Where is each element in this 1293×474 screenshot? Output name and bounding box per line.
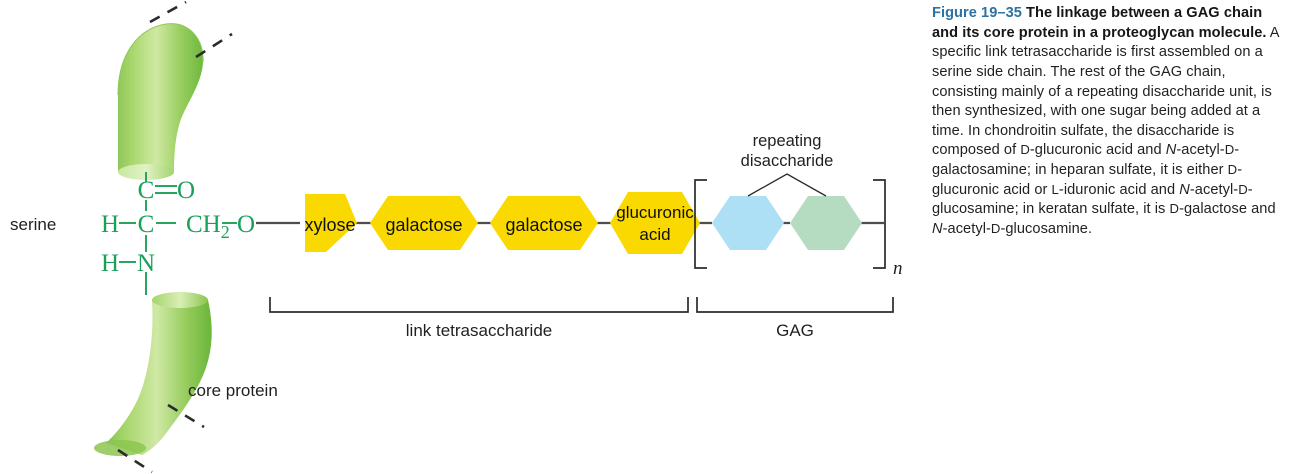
caption-segment-plain: -iduronic acid and [1059,182,1179,198]
sugar-galactose-2[interactable]: galactose [490,196,598,250]
repeating-disaccharide-label-line2: disaccharide [741,152,834,170]
label-link-tetrasaccharide: link tetrasaccharide [406,321,552,340]
bracket-gag [697,297,893,312]
sugar-glucuronic-acid-label-line2: acid [639,225,670,244]
label-core-protein: core protein [188,381,278,400]
atom-ether-o: O [237,211,255,238]
serine-structure: C O H C CH2 O H N [101,172,300,295]
atom-carbonyl-o: O [177,177,195,204]
sugar-xylose[interactable]: xylose [304,194,357,252]
atom-ch2-subscript: 2 [221,222,230,242]
caption-segment-sc: D [1170,201,1180,216]
caption-segment-sc: D [1225,142,1235,157]
caption-segment-plain: -glucuronic acid and [1030,142,1166,158]
sugar-gag-blue[interactable] [712,196,784,250]
label-gag: GAG [776,321,814,340]
caption-segment-ital: N [1179,182,1190,198]
atom-alpha-h: H [101,211,119,238]
figure-caption: Figure 19–35 The linkage between a GAG c… [932,4,1284,240]
caption-segment-plain: -acetyl- [1176,142,1224,158]
sugar-galactose-2-label: galactose [505,215,582,235]
repeating-disaccharide-label-line1: repeating [753,132,822,150]
figure-caption-text: Figure 19–35 The linkage between a GAG c… [932,5,1279,237]
sugar-glucuronic-acid[interactable]: glucuronic acid [610,192,700,254]
caption-segment-plain: -acetyl- [1190,182,1238,198]
sugar-glucuronic-acid-label-line1: glucuronic [616,203,694,222]
atom-ch2-label: CH [186,211,221,238]
caption-segment-sc: D [1238,182,1248,197]
core-protein-upper [118,24,203,180]
atom-amine-h: H [101,250,119,277]
atom-carbonyl-c: C [138,177,155,204]
caption-segment-fignum: Figure 19–35 [932,5,1026,21]
sugar-galactose-1[interactable]: galactose [370,196,478,250]
sugar-galactose-1-label: galactose [385,215,462,235]
repeat-subscript-n: n [893,258,903,279]
caption-segment-plain: -glucosamine. [1000,221,1092,237]
caption-segment-ital: N [1166,142,1177,158]
atom-ch2: CH2 [186,211,230,242]
diagram-panel: C O H C CH2 O H N [0,0,930,474]
bracket-link-tetrasaccharide [270,297,688,312]
caption-segment-sc: D [1020,142,1030,157]
caption-segment-sc: D [1228,162,1238,177]
core-protein-lower [94,292,212,458]
caption-segment-plain: -acetyl- [943,221,991,237]
sugar-gag-green[interactable] [790,196,862,250]
caption-segment-ital: N [932,221,943,237]
label-serine: serine [10,215,56,234]
atom-alpha-c: C [138,211,155,238]
repeating-disaccharide-leader [748,174,826,196]
atom-amine-n: N [137,250,155,277]
figure-root: C O H C CH2 O H N [0,0,1293,474]
sugar-xylose-label: xylose [304,215,355,235]
caption-segment-plain: -galactose and [1179,201,1276,217]
caption-segment-sc: L [1052,182,1059,197]
caption-segment-plain: A specific link tetrasaccharide is first… [932,25,1279,159]
